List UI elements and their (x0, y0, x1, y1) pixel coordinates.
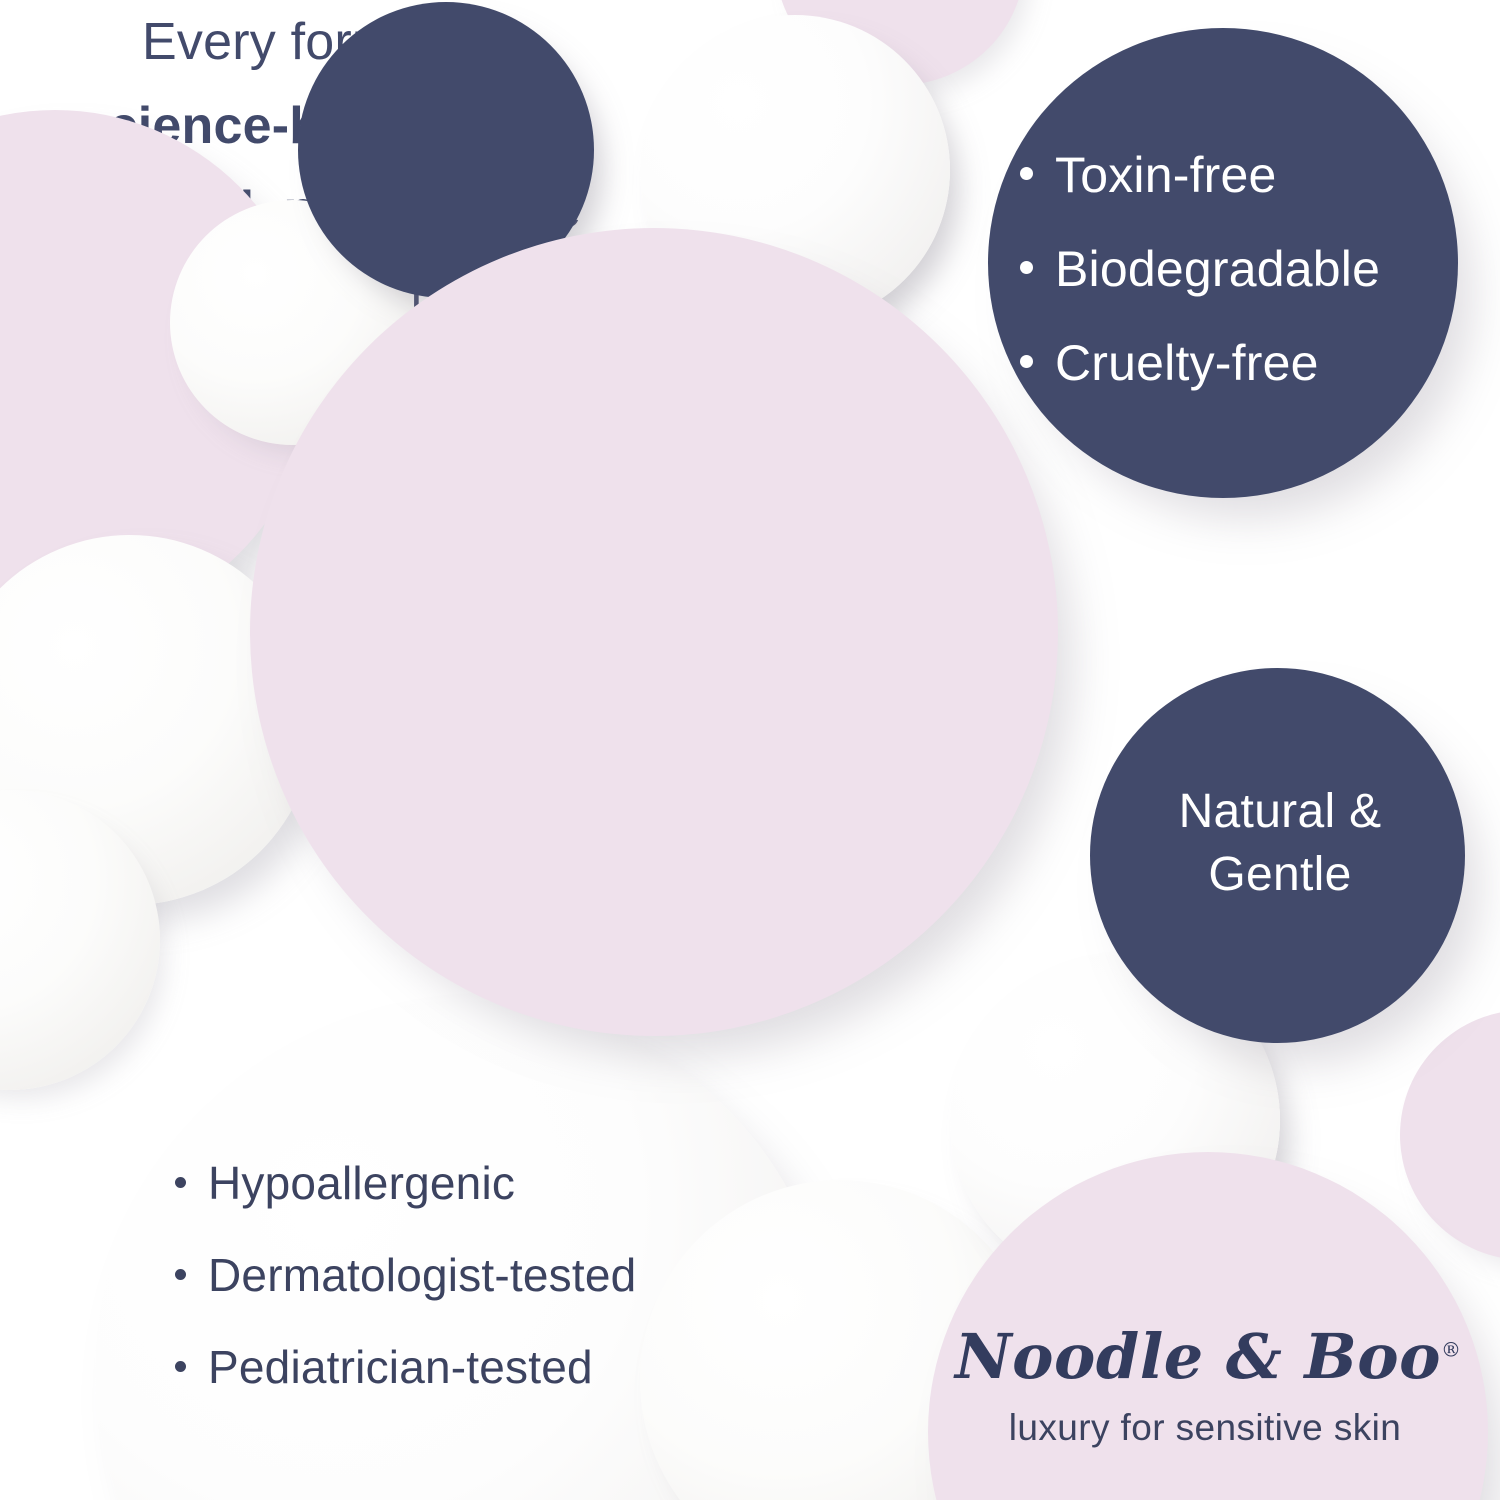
brand-logo: Noodle & Boo® luxury for sensitive skin (955, 1320, 1455, 1449)
claim-label: Hypoallergenic (208, 1160, 515, 1206)
list-item: Cruelty-free (1020, 338, 1440, 388)
brand-wordmark: Noodle & Boo® (955, 1320, 1455, 1393)
natural-gentle-line-1: Natural & (1150, 780, 1410, 843)
brand-name: Noodle & Boo (955, 1320, 1441, 1393)
list-item: Pediatrician-tested (175, 1344, 815, 1390)
decorative-circle-pink-bottom-right-back (1400, 1010, 1500, 1260)
hero-circle (250, 228, 1058, 1036)
poster-canvas: Every formula is science-based using nat… (0, 0, 1500, 1500)
claim-label: Pediatrician-tested (208, 1344, 593, 1390)
claims-bullet-list: Hypoallergenic Dermatologist-tested Pedi… (175, 1160, 815, 1436)
navy-bullet-label: Cruelty-free (1055, 338, 1319, 388)
bullet-dot-icon (1020, 167, 1033, 180)
list-item: Biodegradable (1020, 244, 1440, 294)
claim-label: Dermatologist-tested (208, 1252, 636, 1298)
list-item: Dermatologist-tested (175, 1252, 815, 1298)
natural-gentle-line-2: Gentle (1150, 843, 1410, 906)
bullet-dot-icon (175, 1177, 186, 1188)
natural-gentle-label: Natural & Gentle (1150, 780, 1410, 907)
registered-trademark-icon: ® (1441, 1337, 1462, 1361)
navy-bullet-label: Toxin-free (1055, 150, 1277, 200)
bullet-dot-icon (1020, 355, 1033, 368)
bullet-dot-icon (175, 1269, 186, 1280)
navy-bullet-list: Toxin-free Biodegradable Cruelty-free (1020, 150, 1440, 432)
list-item: Toxin-free (1020, 150, 1440, 200)
list-item: Hypoallergenic (175, 1160, 815, 1206)
navy-bullet-label: Biodegradable (1055, 244, 1380, 294)
bullet-dot-icon (1020, 261, 1033, 274)
brand-tagline: luxury for sensitive skin (955, 1407, 1455, 1449)
bullet-dot-icon (175, 1361, 186, 1372)
